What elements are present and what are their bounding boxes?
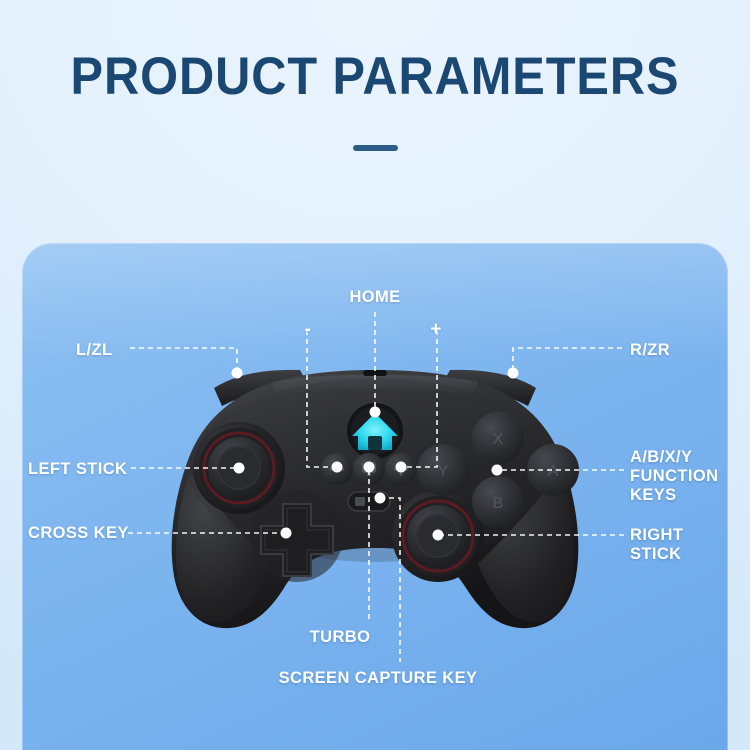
callout-cross-key: CROSS KEY	[28, 524, 129, 543]
top-notch	[363, 370, 387, 376]
dpad	[251, 490, 343, 582]
minus-button	[321, 453, 353, 485]
svg-text:Y: Y	[438, 463, 449, 480]
plus-button	[385, 453, 417, 485]
page-title: PRODUCT PARAMETERS	[30, 48, 720, 106]
callout-turbo: TURBO	[280, 628, 400, 647]
button-x: X	[472, 412, 524, 464]
turbo-switch	[348, 492, 390, 511]
callout-rzr: R/ZR	[630, 341, 670, 360]
system-buttons	[321, 453, 417, 485]
svg-text:B: B	[493, 495, 504, 512]
button-b: B	[472, 476, 524, 528]
button-y: Y	[417, 444, 469, 496]
callout-home: HOME	[300, 288, 450, 307]
button-a: A	[527, 444, 579, 496]
header: PRODUCT PARAMETERS	[0, 0, 750, 200]
right-stick	[392, 490, 484, 582]
callout-abxy: A/B/X/Y FUNCTION KEYS	[630, 448, 718, 505]
callout-right-stick: RIGHT STICK	[630, 526, 683, 564]
capture-button	[353, 453, 385, 485]
callout-left-stick: LEFT STICK	[28, 460, 127, 479]
callout-plus: +	[416, 320, 456, 339]
home-button	[347, 403, 403, 459]
title-divider	[353, 145, 398, 151]
callout-minus: -	[288, 320, 328, 339]
callout-capture: SCREEN CAPTURE KEY	[228, 669, 528, 688]
svg-text:X: X	[493, 431, 504, 448]
svg-text:A: A	[548, 463, 559, 480]
callout-lzl: L/ZL	[76, 341, 112, 360]
